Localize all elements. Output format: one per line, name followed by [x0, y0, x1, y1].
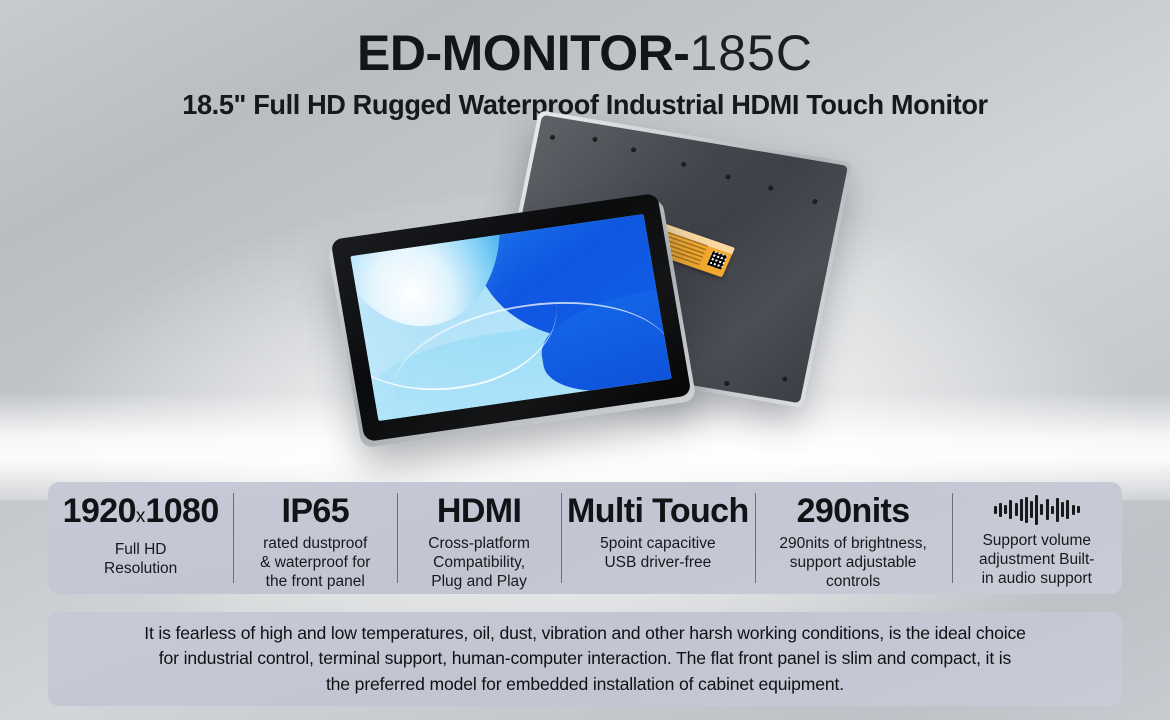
- screen-glare: [350, 214, 671, 421]
- spec-sub-line: Resolution: [104, 559, 177, 578]
- spec-sub-audio: Support volume adjustment Built- in audi…: [979, 531, 1094, 588]
- spec-sub-brightness: 290nits of brightness, support adjustabl…: [779, 534, 926, 591]
- spec-sub-line: Plug and Play: [428, 572, 530, 591]
- spec-sub-line: in audio support: [979, 569, 1094, 588]
- spec-item-resolution: 1920x1080 Full HD Resolution: [48, 482, 233, 594]
- spec-item-hdmi: HDMI Cross-platform Compatibility, Plug …: [397, 482, 561, 594]
- product-image: [330, 120, 850, 470]
- spec-headline-resolution: 1920x1080: [63, 491, 219, 537]
- spec-item-audio: Support volume adjustment Built- in audi…: [952, 482, 1122, 594]
- spec-sub-hdmi: Cross-platform Compatibility, Plug and P…: [428, 534, 530, 591]
- front-monitor: [330, 193, 691, 442]
- spec-item-ip65: IP65 rated dustproof & waterproof for th…: [233, 482, 397, 594]
- resolution-height: 1080: [145, 492, 218, 530]
- spec-sub-line: Cross-platform: [428, 534, 530, 553]
- spec-sub-line: controls: [779, 572, 926, 591]
- spec-sub-line: rated dustproof: [260, 534, 370, 553]
- spec-sub-line: & waterproof for: [260, 553, 370, 572]
- spec-sub-ip65: rated dustproof & waterproof for the fro…: [260, 534, 370, 591]
- spec-sub-line: Full HD: [104, 540, 177, 559]
- monitor-screen: [350, 214, 671, 421]
- description-line: It is fearless of high and low temperatu…: [144, 621, 1026, 647]
- page-title-model: 185C: [689, 25, 813, 81]
- spec-sub-line: support adjustable: [779, 553, 926, 572]
- spec-bar: 1920x1080 Full HD Resolution IP65 rated …: [48, 482, 1122, 594]
- description-text: It is fearless of high and low temperatu…: [144, 621, 1026, 698]
- description-line: the preferred model for embedded install…: [144, 672, 1026, 698]
- page-title: ED-MONITOR-185C: [0, 24, 1170, 82]
- resolution-width: 1920: [63, 492, 136, 530]
- audio-waveform-icon: [994, 491, 1080, 528]
- spec-sub-line: USB driver-free: [600, 553, 715, 572]
- spec-headline-brightness: 290nits: [797, 491, 910, 531]
- spec-headline-hdmi: HDMI: [437, 491, 521, 531]
- spec-sub-line: 290nits of brightness,: [779, 534, 926, 553]
- spec-item-multitouch: Multi Touch 5point capacitive USB driver…: [561, 482, 755, 594]
- spec-sub-line: Support volume: [979, 531, 1094, 550]
- description-panel: It is fearless of high and low temperatu…: [48, 612, 1122, 706]
- spec-sub-line: the front panel: [260, 572, 370, 591]
- spec-headline-ip65: IP65: [281, 491, 349, 531]
- page-title-bold: ED-MONITOR-: [357, 25, 689, 81]
- spec-sub-line: adjustment Built-: [979, 550, 1094, 569]
- spec-sub-line: 5point capacitive: [600, 534, 715, 553]
- spec-sub-line: Compatibility,: [428, 553, 530, 572]
- spec-headline-multitouch: Multi Touch: [567, 491, 749, 531]
- qr-code-icon: [707, 251, 727, 270]
- spec-sub-multitouch: 5point capacitive USB driver-free: [600, 534, 715, 572]
- spec-item-brightness: 290nits 290nits of brightness, support a…: [755, 482, 952, 594]
- resolution-separator: x: [136, 506, 146, 527]
- description-line: for industrial control, terminal support…: [144, 646, 1026, 672]
- spec-sub-resolution: Full HD Resolution: [104, 540, 177, 578]
- header: ED-MONITOR-185C 18.5" Full HD Rugged Wat…: [0, 24, 1170, 122]
